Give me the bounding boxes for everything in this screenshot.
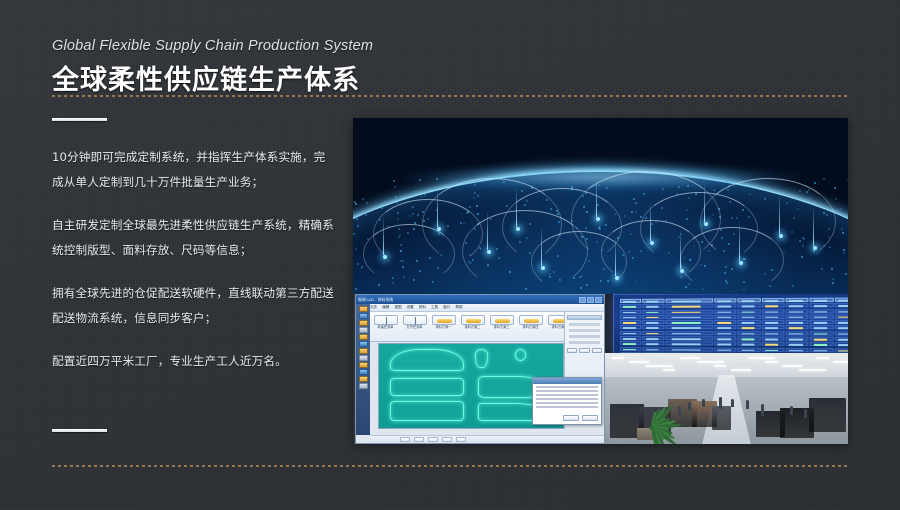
ceiling-light [799, 369, 826, 371]
garment-rack [809, 398, 845, 432]
ribbon-button-label: 新建任务单 [378, 326, 394, 330]
globe-dot [421, 196, 423, 198]
worker-figure [761, 404, 764, 416]
body-copy-column: 10分钟即可完成定制系统，并指挥生产体系实施，完成从单人定制到几十万件批量生产业… [52, 118, 337, 374]
tool-icon[interactable] [359, 383, 368, 389]
dialog-list-row [536, 386, 598, 388]
led-data-cell [665, 342, 713, 346]
globe-dot [394, 186, 396, 188]
cad-menu-bar[interactable]: 文件编辑视图设置排料工具窗口帮助 [356, 304, 604, 312]
globe-dot [365, 214, 367, 216]
status-button[interactable] [414, 437, 424, 442]
led-data-table [620, 298, 848, 352]
led-data-cell [786, 320, 809, 324]
ceiling-light [765, 361, 777, 363]
globe-beam [516, 188, 517, 227]
worker-figure [719, 397, 722, 409]
globe-dot [845, 273, 847, 275]
led-header-cell [786, 298, 809, 302]
globe-dot [355, 203, 357, 205]
led-data-cell [810, 303, 833, 307]
led-data-cell [620, 325, 641, 329]
led-data-cell [738, 326, 761, 330]
led-data-cell [642, 331, 664, 335]
ceiling-light [731, 369, 750, 371]
led-data-cell [738, 320, 761, 324]
dialog-list-row [536, 406, 598, 408]
globe-beam [596, 178, 597, 217]
close-button[interactable] [592, 348, 602, 353]
dialog-list-row [536, 402, 598, 404]
led-table-row [620, 309, 848, 314]
led-table-row [620, 325, 848, 329]
body-paragraph: 拥有全球先进的仓促配送软硬件，直线联动第三方配送配送物流系统，信息同步客户； [52, 281, 337, 331]
globe-dot [832, 278, 834, 280]
led-data-cell [714, 304, 736, 308]
globe-dot [685, 286, 687, 288]
worker-figure [746, 400, 749, 408]
cad-result-dialog[interactable] [532, 377, 602, 425]
ceiling-light-row [605, 355, 848, 373]
cad-app-title: 服装CAD - 排料系统 [358, 297, 393, 303]
led-data-cell [620, 320, 641, 324]
globe-beam [541, 227, 542, 266]
globe-arc [462, 210, 588, 292]
globe-node [541, 266, 545, 270]
media-collage: 服装CAD - 排料系统 文件编辑视图设置排料工具窗口帮助 [353, 118, 848, 444]
globe-node [779, 234, 783, 238]
led-data-cell [642, 315, 664, 319]
ceiling-light [833, 361, 848, 363]
ribbon-button-label: 排料方案一 [436, 326, 452, 330]
tool-icon[interactable] [359, 327, 368, 333]
ribbon-button-icon [374, 315, 398, 325]
globe-dot [355, 248, 357, 250]
ceiling-light [663, 369, 675, 371]
led-data-cell [665, 320, 713, 324]
global-network-globe-image [353, 118, 848, 294]
led-data-cell [620, 304, 641, 308]
cad-menu-item[interactable]: 帮助 [455, 305, 462, 310]
globe-beam [383, 217, 384, 256]
ribbon-button-icon [490, 315, 514, 325]
globe-dot [395, 196, 397, 198]
globe-dot [841, 228, 843, 230]
led-data-cell [714, 347, 736, 351]
ceiling-light [816, 357, 828, 359]
worker-figure [702, 399, 705, 407]
slide-root: Global Flexible Supply Chain Production … [0, 0, 900, 510]
status-button[interactable] [456, 437, 466, 442]
cad-menu-item[interactable]: 排料 [419, 305, 426, 310]
globe-beam [650, 202, 651, 241]
led-data-cell [835, 314, 848, 318]
led-header-cell [620, 299, 641, 303]
tool-icon[interactable] [359, 355, 368, 361]
globe-dot [353, 233, 355, 235]
cad-pattern-software-window[interactable]: 服装CAD - 排料系统 文件编辑视图设置排料工具窗口帮助 [355, 294, 605, 444]
tool-icon[interactable] [359, 320, 368, 326]
divider-top [52, 95, 848, 97]
globe-beam [437, 188, 438, 227]
globe-dot [713, 189, 715, 191]
cad-pattern-piece[interactable] [390, 378, 464, 396]
globe-dot [396, 202, 398, 204]
globe-node [487, 250, 491, 254]
accent-tick-top [52, 118, 107, 121]
led-data-cell [714, 336, 736, 340]
paragraph-list: 10分钟即可完成定制系统，并指挥生产体系实施，完成从单人定制到几十万件批量生产业… [52, 145, 337, 374]
ceiling-light [612, 357, 624, 359]
tool-icon[interactable] [359, 362, 368, 368]
ribbon-button-label: 排料方案四 [523, 326, 539, 330]
ribbon-button-icon [519, 315, 543, 325]
led-data-cell [738, 315, 761, 319]
cancel-button[interactable] [582, 415, 598, 421]
worker-figure [804, 409, 807, 418]
led-data-cell [810, 309, 833, 313]
led-data-cell [642, 309, 664, 313]
globe-node [739, 261, 743, 265]
close-icon[interactable] [595, 297, 602, 303]
led-data-cell [786, 342, 809, 346]
led-data-cell [786, 337, 809, 341]
tool-icon[interactable] [359, 306, 368, 312]
ceiling-light [680, 357, 699, 359]
led-data-cell [665, 315, 713, 319]
globe-dot [424, 194, 426, 196]
led-data-cell [714, 342, 736, 346]
led-data-cell [810, 342, 833, 346]
dialog-list-row [536, 398, 598, 400]
led-dashboard-display [613, 294, 848, 357]
globe-beam [739, 222, 740, 261]
led-header-cell [642, 299, 664, 303]
cad-panel-field [569, 329, 600, 332]
globe-dot [362, 198, 364, 200]
led-data-cell [835, 337, 848, 341]
page-header: Global Flexible Supply Chain Production … [52, 38, 373, 97]
led-data-cell [714, 309, 736, 313]
globe-dot [842, 232, 844, 234]
ceiling-light [629, 361, 648, 363]
cad-menu-item[interactable]: 视图 [394, 305, 401, 310]
globe-dot [832, 282, 834, 284]
cad-pattern-piece[interactable] [390, 401, 464, 421]
cad-panel-field [569, 341, 600, 344]
led-data-cell [620, 309, 641, 313]
cad-panel-field [569, 335, 600, 338]
led-data-cell [714, 331, 736, 335]
led-table-row [620, 331, 848, 336]
globe-beam [704, 183, 705, 222]
led-data-cell [620, 331, 641, 335]
led-header-cell [835, 298, 848, 302]
led-table-row [620, 314, 848, 319]
worker-figure [790, 406, 793, 415]
ribbon-button-icon [403, 315, 427, 325]
led-data-cell [620, 336, 641, 340]
globe-dot [419, 179, 421, 181]
status-button[interactable] [428, 437, 438, 442]
maximize-icon[interactable] [587, 297, 594, 303]
led-data-cell [786, 303, 809, 307]
globe-beam [680, 231, 681, 270]
globe-node [383, 255, 387, 259]
led-data-cell [810, 337, 833, 341]
led-data-cell [762, 331, 785, 335]
garment-rack [712, 406, 731, 430]
led-table-header-row [620, 298, 848, 303]
cad-menu-item[interactable]: 编辑 [382, 305, 389, 310]
led-data-cell [665, 347, 713, 351]
cad-ribbon-button[interactable]: 打开任务单 [401, 315, 428, 330]
cad-pattern-piece[interactable] [515, 349, 526, 361]
led-data-cell [835, 331, 848, 335]
globe-dot [821, 268, 823, 270]
reset-button[interactable] [579, 348, 589, 353]
ribbon-button-label: 打开任务单 [407, 326, 423, 330]
dialog-buttons[interactable] [563, 415, 598, 421]
led-data-cell [738, 309, 761, 313]
led-data-cell [620, 341, 641, 345]
workshop-floor [605, 353, 848, 444]
confirm-button[interactable] [563, 415, 579, 421]
led-data-cell [738, 331, 761, 335]
tool-icon[interactable] [359, 369, 368, 375]
globe-dot [769, 285, 771, 287]
tool-icon[interactable] [359, 334, 368, 340]
globe-dot [378, 284, 380, 286]
led-data-cell [665, 331, 713, 335]
factory-floor-photo [605, 294, 848, 444]
tool-icon[interactable] [359, 376, 368, 382]
globe-dot [361, 267, 363, 269]
globe-arc [363, 224, 455, 284]
led-data-cell [835, 342, 848, 346]
cad-panel-field [569, 323, 600, 326]
led-data-cell [762, 314, 785, 318]
led-data-cell [665, 336, 713, 340]
globe-dot [835, 198, 837, 200]
cad-tool-sidebar[interactable] [356, 304, 370, 435]
led-header-cell [762, 298, 785, 302]
led-data-cell [620, 315, 641, 319]
cad-menu-item[interactable]: 工具 [431, 305, 438, 310]
cad-panel-buttons[interactable] [567, 348, 602, 353]
globe-dot [366, 202, 368, 204]
ribbon-button-label: 排料方案三 [494, 326, 510, 330]
led-data-cell [762, 342, 785, 346]
led-data-cell [738, 347, 761, 351]
cad-menu-item[interactable]: 窗口 [443, 305, 450, 310]
status-button[interactable] [442, 437, 452, 442]
led-data-cell [642, 304, 664, 308]
led-data-cell [786, 331, 809, 335]
cad-menu-item[interactable]: 文件 [370, 305, 377, 310]
led-data-cell [665, 304, 713, 308]
globe-dot [831, 268, 833, 270]
globe-node [596, 217, 600, 221]
led-data-cell [835, 320, 848, 324]
tool-icon[interactable] [359, 313, 368, 319]
accent-tick-bottom [52, 429, 107, 432]
globe-beam [813, 208, 814, 247]
cad-ribbon-button[interactable]: 排料方案四 [517, 315, 544, 330]
led-data-cell [714, 315, 736, 319]
led-header-cell [738, 298, 761, 302]
dialog-result-list [533, 384, 601, 412]
globe-beam [615, 238, 616, 277]
led-data-cell [810, 326, 833, 330]
led-data-cell [810, 331, 833, 335]
globe-dot [441, 186, 443, 188]
globe-dot [726, 181, 728, 183]
led-data-cell [738, 342, 761, 346]
worker-figure [678, 406, 681, 416]
led-data-cell [738, 304, 761, 308]
globe-dot [847, 179, 848, 181]
led-header-cell [714, 298, 736, 302]
body-paragraph: 自主研发定制全球最先进柔性供应链生产系统，精确系统控制版型、面料存放、尺码等信息… [52, 213, 337, 263]
led-data-cell [786, 309, 809, 313]
apply-button[interactable] [567, 348, 577, 353]
led-data-cell [642, 320, 664, 324]
globe-dot [357, 263, 359, 265]
subtitle-english: Global Flexible Supply Chain Production … [52, 38, 373, 54]
led-header-cell [665, 298, 713, 302]
led-data-cell [642, 347, 664, 351]
led-data-cell [642, 341, 664, 345]
globe-beam [487, 211, 488, 250]
ribbon-button-icon [432, 315, 456, 325]
worker-figure [731, 399, 734, 407]
led-data-cell [714, 326, 736, 330]
ceiling-light [714, 365, 726, 367]
ceiling-light [782, 365, 801, 367]
led-data-cell [835, 309, 848, 313]
globe-dot [834, 187, 836, 189]
led-data-cell [810, 320, 833, 324]
cad-menu-item[interactable]: 设置 [407, 305, 414, 310]
globe-dot [432, 281, 434, 283]
ceiling-light [697, 361, 724, 363]
led-data-cell [665, 309, 713, 313]
led-data-cell [835, 348, 848, 352]
tool-icon[interactable] [359, 348, 368, 354]
led-data-cell [835, 303, 848, 307]
globe-dot [414, 191, 416, 193]
dialog-list-row [536, 390, 598, 392]
potted-plant [623, 388, 677, 440]
globe-dot [843, 252, 845, 254]
cad-window-controls[interactable] [579, 297, 602, 303]
led-data-cell [762, 309, 785, 313]
led-data-cell [762, 303, 785, 307]
globe-dot [381, 207, 383, 209]
led-data-cell [786, 348, 809, 352]
cad-ribbon-button[interactable]: 排料方案二 [459, 315, 486, 330]
globe-dot [356, 218, 358, 220]
dialog-list-row [536, 394, 598, 396]
globe-dot [829, 246, 831, 248]
globe-beam [779, 195, 780, 234]
globe-dot [792, 285, 794, 287]
led-data-cell [714, 320, 736, 324]
page-title: 全球柔性供应链生产体系 [52, 58, 373, 97]
led-data-cell [810, 348, 833, 352]
divider-bottom [52, 465, 848, 467]
globe-dot [436, 178, 438, 180]
led-data-cell [810, 314, 833, 318]
globe-dot [357, 225, 359, 227]
cad-pattern-piece[interactable] [390, 349, 464, 371]
worker-figure [688, 402, 691, 410]
led-data-cell [665, 325, 713, 329]
globe-dot [814, 182, 816, 184]
globe-dot [355, 288, 357, 290]
globe-dot [840, 208, 842, 210]
led-data-cell [642, 336, 664, 340]
led-table-row [620, 320, 848, 324]
led-data-cell [642, 325, 664, 329]
led-header-cell [810, 298, 833, 302]
tool-icon[interactable] [359, 341, 368, 347]
led-data-cell [762, 320, 785, 324]
ribbon-button-icon [461, 315, 485, 325]
ceiling-light [646, 365, 673, 367]
led-data-cell [738, 336, 761, 340]
led-data-cell [835, 326, 848, 330]
body-paragraph: 10分钟即可完成定制系统，并指挥生产体系实施，完成从单人定制到几十万件批量生产业… [52, 145, 337, 195]
ceiling-light [748, 357, 775, 359]
globe-dot [823, 178, 825, 180]
globe-dot [393, 180, 395, 182]
body-paragraph: 配置近四万平米工厂，专业生产工人近万名。 [52, 349, 337, 374]
led-data-cell [762, 336, 785, 340]
status-button[interactable] [400, 437, 410, 442]
led-table-row [620, 303, 848, 308]
cad-status-bar[interactable] [370, 435, 604, 443]
ribbon-button-label: 排料方案二 [465, 326, 481, 330]
led-table-row [620, 341, 848, 346]
led-table-row [620, 336, 848, 341]
minimize-icon[interactable] [579, 297, 586, 303]
cad-ribbon-button[interactable]: 排料方案三 [488, 315, 515, 330]
led-data-cell [762, 326, 785, 330]
cad-title-bar: 服装CAD - 排料系统 [356, 295, 604, 304]
cad-ribbon-button[interactable]: 新建任务单 [372, 315, 399, 330]
led-data-cell [762, 347, 785, 351]
cad-pattern-piece[interactable] [475, 349, 488, 367]
globe-dot [702, 288, 704, 290]
cad-ribbon-button[interactable]: 排料方案一 [430, 315, 457, 330]
led-data-cell [620, 347, 641, 351]
led-data-cell [786, 326, 809, 330]
cad-panel-title [567, 315, 602, 320]
led-data-cell [786, 314, 809, 318]
globe-dot [688, 283, 690, 285]
